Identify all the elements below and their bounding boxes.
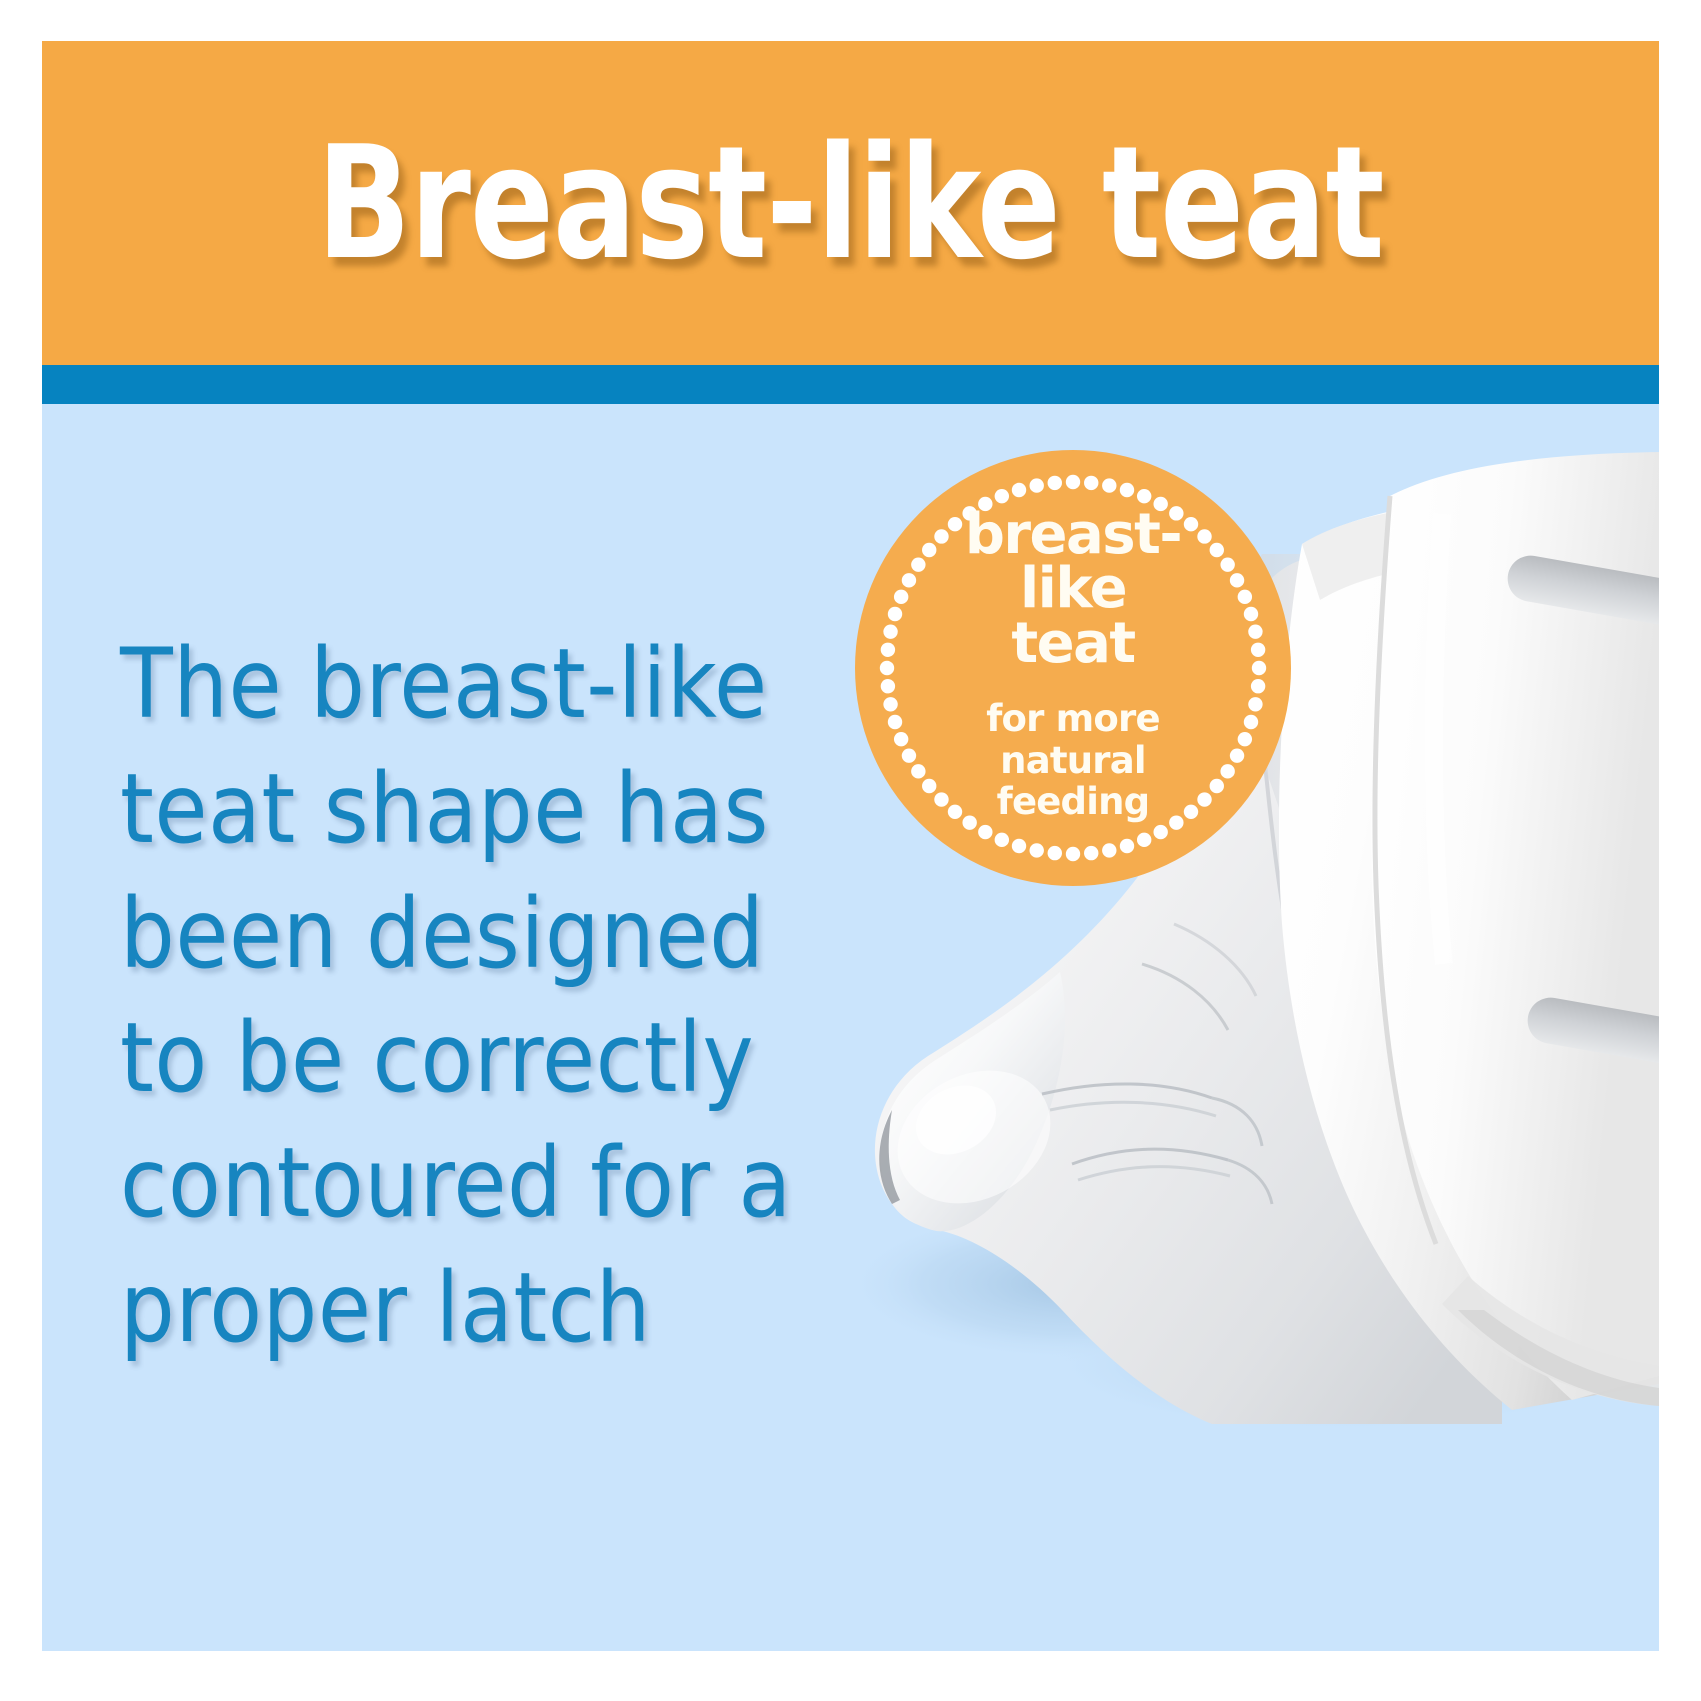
header-band: Breast-like teat	[42, 41, 1659, 365]
description-line: been designed	[120, 872, 840, 997]
badge-headline-line2: teat	[923, 616, 1223, 672]
badge-headline-line1: breast-like	[923, 508, 1223, 617]
description-line: The breast-like	[120, 622, 840, 747]
divider-stripe	[42, 365, 1659, 404]
product-feature-card: Breast-like teat	[0, 0, 1701, 1701]
description-line: proper latch	[120, 1246, 840, 1371]
content-panel: breast-like teat for more natural feedin…	[42, 404, 1659, 1651]
description-line: contoured for a	[120, 1121, 840, 1246]
badge-text-block: breast-like teat for more natural feedin…	[923, 514, 1223, 823]
description-text: The breast-like teat shape has been desi…	[120, 622, 840, 1371]
badge-roundel: breast-like teat for more natural feedin…	[855, 450, 1291, 886]
description-line: to be correctly	[120, 996, 840, 1121]
badge-subtitle-line1: for more natural	[986, 697, 1160, 781]
page-title: Breast-like teat	[42, 125, 1659, 281]
badge-subtitle: for more natural feeding	[923, 698, 1223, 822]
badge-subtitle-line2: feeding	[997, 780, 1150, 823]
description-line: teat shape has	[120, 747, 840, 872]
page-title-text: Breast-like teat	[317, 125, 1384, 281]
